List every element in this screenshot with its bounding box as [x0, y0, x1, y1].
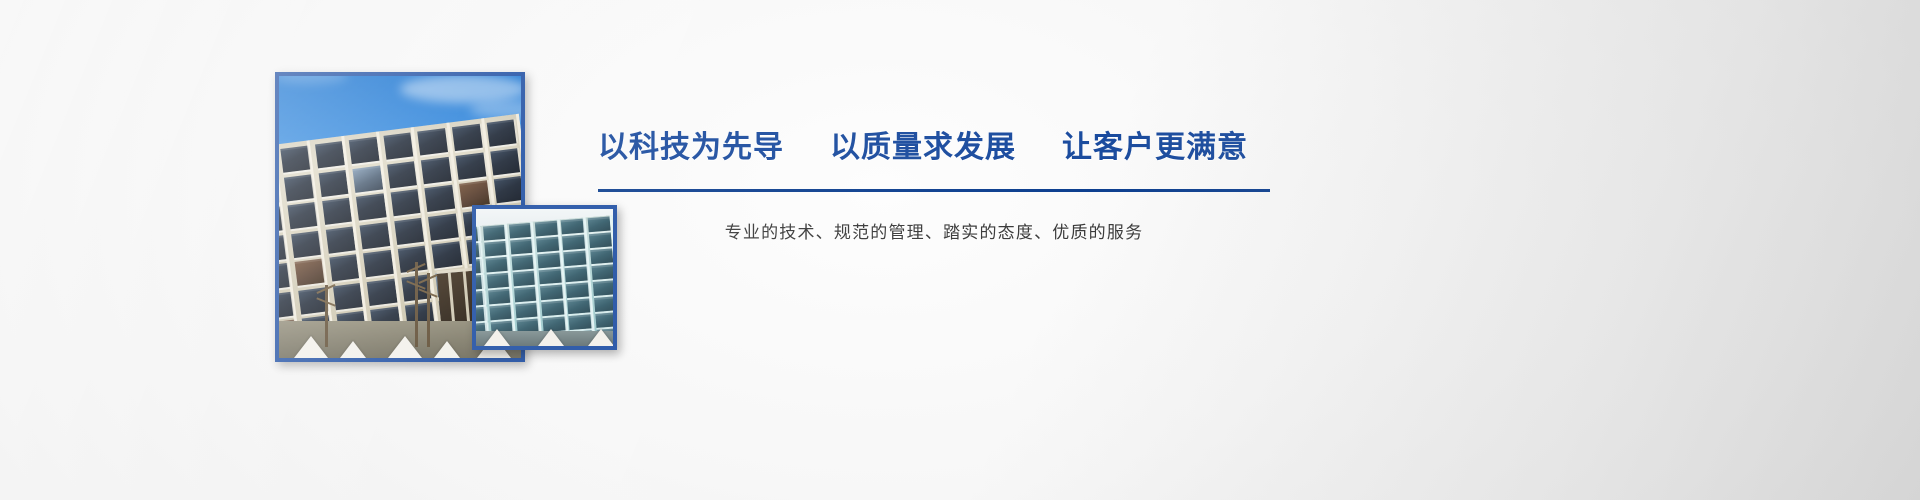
white-tent [294, 336, 328, 358]
cloud-shape [279, 76, 348, 84]
bare-tree [415, 262, 418, 347]
headline-segment-2: 以质量求发展 [830, 130, 1016, 166]
banner-subline: 专业的技术、规范的管理、踏实的态度、优质的服务 [598, 218, 1270, 243]
white-tent [388, 336, 422, 358]
headline-divider-rule [598, 189, 1270, 192]
white-tent [538, 329, 564, 346]
banner-headline: 以科技为先导 以质量求发展 让客户更满意 [598, 130, 1298, 166]
facade-piers [476, 215, 613, 346]
white-tent [434, 341, 460, 358]
photo-collage [0, 0, 660, 500]
headline-segment-1: 以科技为先导 [598, 130, 784, 166]
cloud-shape [400, 76, 521, 103]
photo-secondary-canvas [476, 209, 613, 346]
hero-banner: 以科技为先导 以质量求发展 让客户更满意 专业的技术、规范的管理、踏实的态度、优… [0, 0, 1920, 500]
photo-office-building-secondary [472, 205, 617, 350]
headline-segment-3: 让客户更满意 [1062, 130, 1248, 166]
building-facade [476, 215, 613, 346]
white-tent [484, 329, 510, 346]
bare-tree [427, 273, 430, 346]
white-tent [588, 329, 613, 346]
white-tent [340, 341, 366, 358]
banner-copy: 以科技为先导 以质量求发展 让客户更满意 专业的技术、规范的管理、踏实的态度、优… [598, 130, 1298, 243]
